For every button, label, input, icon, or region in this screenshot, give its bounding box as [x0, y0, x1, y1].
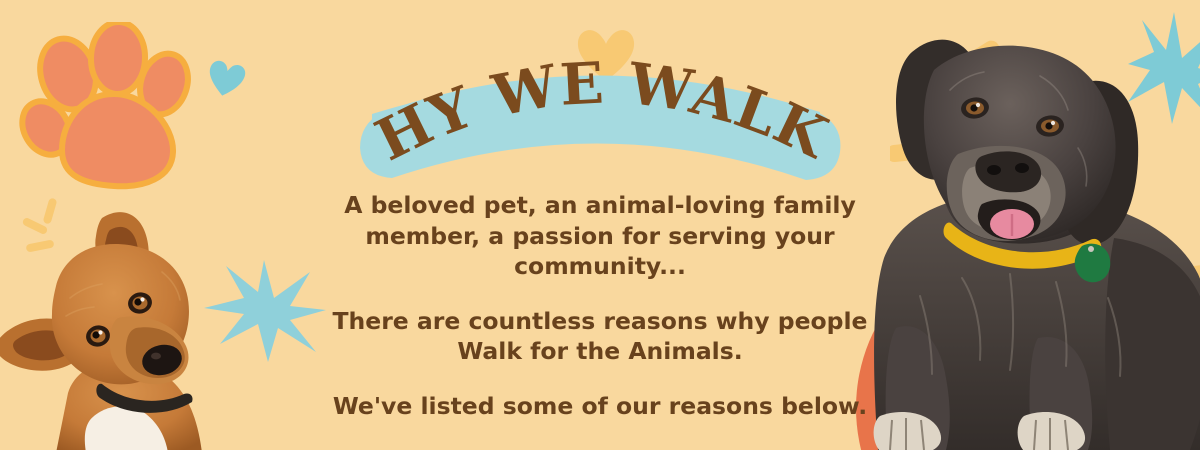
body-copy: A beloved pet, an animal-loving family m… — [300, 190, 900, 421]
copy-spacer-1 — [300, 282, 900, 306]
dog-tag-icon — [1075, 244, 1110, 283]
dog-left-photo — [0, 188, 230, 450]
title-banner: WHY WE WALK... — [350, 52, 850, 182]
paragraph-2-line-2: Walk for the Animals. — [300, 336, 900, 367]
why-we-walk-banner: WHY WE WALK... A beloved pet, an animal-… — [0, 0, 1200, 450]
copy-spacer-2 — [300, 367, 900, 391]
paragraph-2-line-1: There are countless reasons why people — [300, 306, 900, 337]
paragraph-1-line-3: community... — [300, 251, 900, 282]
heart-blue-icon — [205, 58, 247, 98]
paw-print-icon — [18, 22, 208, 192]
paragraph-1-line-2: member, a passion for serving your — [300, 221, 900, 252]
paragraph-1-line-1: A beloved pet, an animal-loving family — [300, 190, 900, 221]
paragraph-3-line-1: We've listed some of our reasons below. — [300, 391, 900, 422]
